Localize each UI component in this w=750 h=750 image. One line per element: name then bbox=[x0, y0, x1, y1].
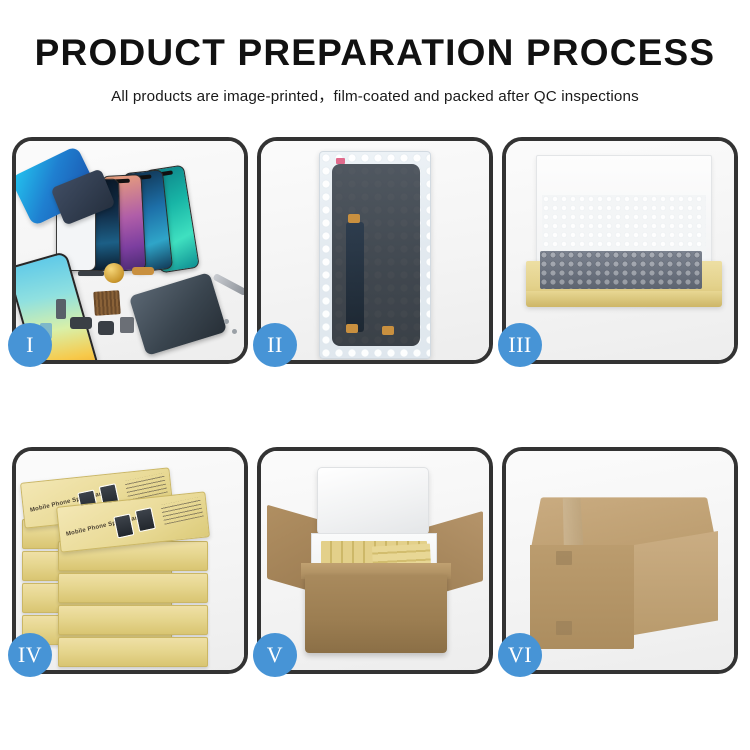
product-preparation-process-page: PRODUCT PREPARATION PROCESS All products… bbox=[0, 0, 750, 750]
camera-module-part bbox=[70, 317, 92, 329]
carton-side-face bbox=[634, 531, 718, 635]
screw-part bbox=[224, 319, 229, 324]
step-6-image-frame bbox=[506, 451, 734, 670]
flex-connector bbox=[382, 326, 394, 335]
flex-connector bbox=[346, 324, 358, 333]
carton-seam-tab bbox=[556, 621, 572, 635]
flex-connector bbox=[348, 214, 360, 223]
photo-open-kraft-box-with-foam bbox=[506, 141, 734, 360]
battery-connector-part bbox=[56, 299, 66, 319]
box-spec-lines bbox=[160, 497, 203, 525]
process-steps-grid: I II bbox=[12, 137, 738, 674]
step-1-image-frame bbox=[16, 141, 244, 360]
badge-step-2: II bbox=[253, 323, 297, 367]
stacked-box bbox=[58, 605, 208, 635]
display-flex-cable bbox=[346, 222, 364, 332]
photo-stacked-spare-parts-boxes: Mobile Phone Spare Parts Mobile Phone bbox=[16, 451, 244, 670]
power-flex-part bbox=[132, 267, 154, 275]
sim-tray-part bbox=[120, 317, 134, 333]
box-stack: Mobile Phone Spare Parts Mobile Phone bbox=[22, 467, 234, 663]
photo-carton-with-foam-box bbox=[261, 451, 489, 670]
badge-step-5: V bbox=[253, 633, 297, 677]
flex-cable-part bbox=[78, 271, 104, 276]
phone-logic-board bbox=[129, 272, 227, 356]
step-panel-6: VI bbox=[502, 447, 738, 674]
badge-step-3: III bbox=[498, 323, 542, 367]
step-4-image-frame: Mobile Phone Spare Parts Mobile Phone bbox=[16, 451, 244, 670]
step-panel-4: Mobile Phone Spare Parts Mobile Phone bbox=[12, 447, 248, 674]
bubble-wrap-bag bbox=[319, 151, 431, 359]
badge-step-1: I bbox=[8, 323, 52, 367]
step-panel-5: V bbox=[257, 447, 493, 674]
badge-step-6: VI bbox=[498, 633, 542, 677]
stacked-box bbox=[58, 573, 208, 603]
step-panel-3: III bbox=[502, 137, 738, 364]
step-2-image-frame bbox=[261, 141, 489, 360]
stacked-box bbox=[58, 637, 208, 667]
foam-box-lid bbox=[317, 467, 429, 535]
carton-seam-tab bbox=[556, 551, 572, 565]
page-subtitle: All products are image-printed，film-coat… bbox=[0, 84, 750, 106]
page-title: PRODUCT PREPARATION PROCESS bbox=[0, 34, 750, 73]
photo-sealed-shipping-carton bbox=[506, 451, 734, 670]
screw-part bbox=[232, 329, 237, 334]
carton-body bbox=[305, 575, 447, 653]
pink-seal-sticker bbox=[336, 158, 345, 164]
step-3-image-frame bbox=[506, 141, 734, 360]
vibrator-motor-part bbox=[98, 321, 114, 335]
speaker-part-icon bbox=[104, 263, 124, 283]
badge-step-4: IV bbox=[8, 633, 52, 677]
bubble-wrapped-parts-row bbox=[540, 251, 702, 289]
carton-front-face bbox=[530, 545, 634, 649]
photo-lcd-in-bubble-wrap bbox=[261, 141, 489, 360]
box-screen-graphic bbox=[135, 507, 156, 532]
photo-phone-screens-and-parts bbox=[16, 141, 244, 360]
step-5-image-frame bbox=[261, 451, 489, 670]
page-header: PRODUCT PREPARATION PROCESS All products… bbox=[0, 0, 750, 106]
kraft-box-front-edge bbox=[526, 291, 722, 307]
chip-array-part bbox=[93, 290, 121, 316]
tweezers-tool-icon bbox=[212, 273, 244, 296]
step-panel-2: II bbox=[257, 137, 493, 364]
step-panel-1: I bbox=[12, 137, 248, 364]
